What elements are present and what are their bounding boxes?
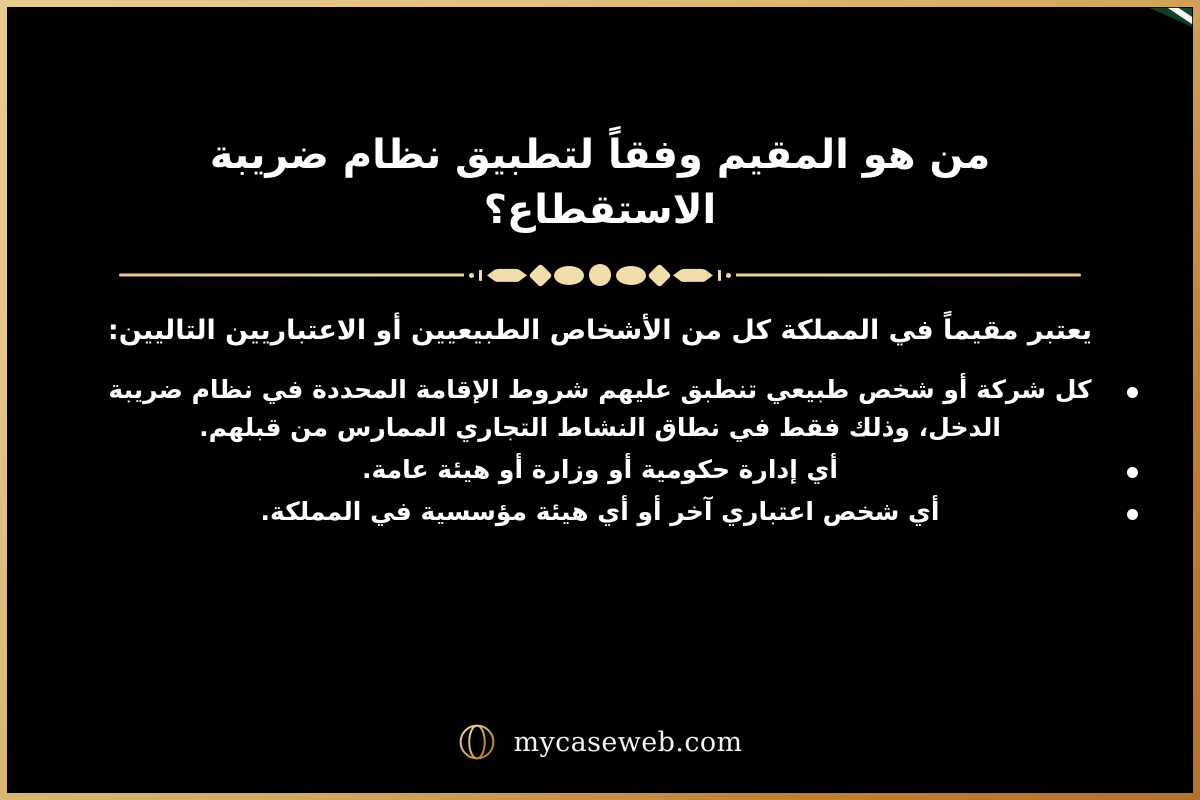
list-item: كل شركة أو شخص طبيعي تنطبق عليهم شروط ال… bbox=[50, 371, 1150, 447]
intro-paragraph: يعتبر مقيماً في المملكة كل من الأشخاص ال… bbox=[50, 310, 1150, 351]
residency-criteria-list: كل شركة أو شخص طبيعي تنطبق عليهم شروط ال… bbox=[50, 371, 1150, 535]
list-item-label: كل شركة أو شخص طبيعي تنطبق عليهم شروط ال… bbox=[108, 375, 1091, 442]
list-item: أي شخص اعتباري آخر أو أي هيئة مؤسسية في … bbox=[50, 493, 1150, 531]
divider-ornament bbox=[464, 264, 736, 286]
footer-brand[interactable]: mycaseweb.com bbox=[0, 722, 1200, 762]
site-url-label: mycaseweb.com bbox=[513, 727, 742, 758]
list-item-label: أي إدارة حكومية أو وزارة أو هيئة عامة. bbox=[362, 455, 838, 484]
list-item: أي إدارة حكومية أو وزارة أو هيئة عامة. bbox=[50, 451, 1150, 489]
ornament-bar-right bbox=[479, 270, 482, 281]
ornament-diamond-right bbox=[528, 263, 552, 287]
bullet-dot-icon bbox=[1127, 387, 1138, 398]
globe-icon bbox=[457, 722, 497, 762]
ornamental-divider bbox=[119, 262, 1081, 288]
ornament-diamond-left bbox=[647, 263, 671, 287]
ornament-bar-left bbox=[718, 270, 721, 281]
infographic-canvas: من هو المقيم وفقاً لتطبيق نظام ضريبة الا… bbox=[0, 0, 1200, 800]
bullet-dot-icon bbox=[1127, 467, 1138, 478]
ornament-oval-left bbox=[616, 266, 646, 285]
ornament-oval-right bbox=[554, 266, 584, 285]
list-item-label: أي شخص اعتباري آخر أو أي هيئة مؤسسية في … bbox=[261, 497, 940, 526]
bullet-dot-icon bbox=[1127, 509, 1138, 520]
ornament-ball-center bbox=[589, 264, 611, 286]
ornament-dot-right bbox=[469, 273, 474, 278]
content-area: من هو المقيم وفقاً لتطبيق نظام ضريبة الا… bbox=[0, 0, 1200, 800]
page-title: من هو المقيم وفقاً لتطبيق نظام ضريبة الا… bbox=[50, 0, 1150, 238]
ornament-leaf-left bbox=[673, 268, 713, 283]
ornament-leaf-right bbox=[487, 268, 527, 283]
ornament-dot-left bbox=[726, 273, 731, 278]
